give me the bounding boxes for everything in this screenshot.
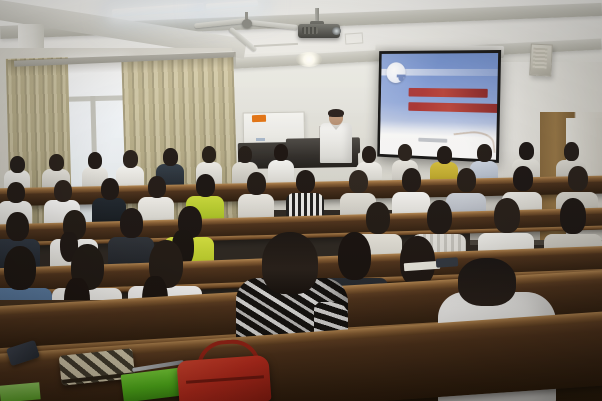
attendee-head: [101, 178, 119, 200]
fan-blade: [194, 18, 246, 28]
attendee-head: [427, 200, 452, 234]
attendee-head: [402, 168, 421, 192]
emblem-mark: [397, 75, 406, 88]
ceiling-fan-icon: [196, 12, 296, 38]
attendee-head: [202, 146, 216, 163]
ceiling-downlight-icon: [296, 52, 322, 67]
projector-vent: [302, 27, 318, 34]
attendee-head: [88, 152, 102, 169]
attendee-head: [10, 156, 25, 173]
attendee-head: [366, 202, 390, 234]
whiteboard-marker-box: [252, 115, 266, 122]
attendee-head: [120, 208, 143, 238]
attendee-head: [7, 182, 25, 203]
fan-blade: [250, 20, 298, 30]
attendee-head: [513, 166, 533, 191]
attendee-head: [247, 172, 266, 195]
attendee-head: [296, 170, 315, 193]
fan-hub: [242, 19, 252, 28]
presenter-hair: [328, 109, 344, 117]
attendee-head: [123, 150, 138, 168]
projector-lens: [332, 27, 341, 35]
attendee-head: [437, 146, 452, 164]
attendee-head: [274, 144, 288, 161]
attendee-head: [458, 258, 516, 306]
attendee-head: [457, 168, 476, 192]
lecture-hall-photo: [0, 0, 602, 401]
speaker-grill: [532, 48, 547, 70]
attendee-head: [148, 176, 166, 198]
attendee-head: [398, 144, 412, 161]
university-emblem-icon: [386, 62, 405, 83]
attendee-head: [519, 142, 534, 160]
slide-title-line-2: [408, 102, 498, 113]
slide-title-line-1: [409, 88, 488, 98]
green-notebook-secondary: [0, 382, 41, 401]
attendee-head: [54, 180, 72, 202]
attendee-head: [568, 166, 588, 191]
slide-footer-text: [418, 138, 447, 143]
attendee-head: [4, 246, 36, 290]
attendee-head: [196, 174, 215, 197]
attendee-head: [362, 146, 376, 163]
mobile-phone-secondary: [436, 257, 459, 268]
ceiling-junction-box: [345, 32, 364, 44]
attendee-head: [494, 198, 520, 233]
attendee-head: [560, 198, 586, 234]
attendee-head: [6, 212, 29, 241]
attendee-head: [477, 144, 492, 162]
attendee-head: [564, 142, 579, 161]
attendee-head: [163, 148, 178, 166]
attendee-hair: [262, 232, 318, 294]
attendee-head: [49, 154, 64, 171]
attendee-head: [349, 170, 368, 193]
ceiling-projector-icon: [296, 8, 344, 48]
attendee-head: [238, 146, 252, 163]
whiteboard-writing: [256, 138, 265, 141]
